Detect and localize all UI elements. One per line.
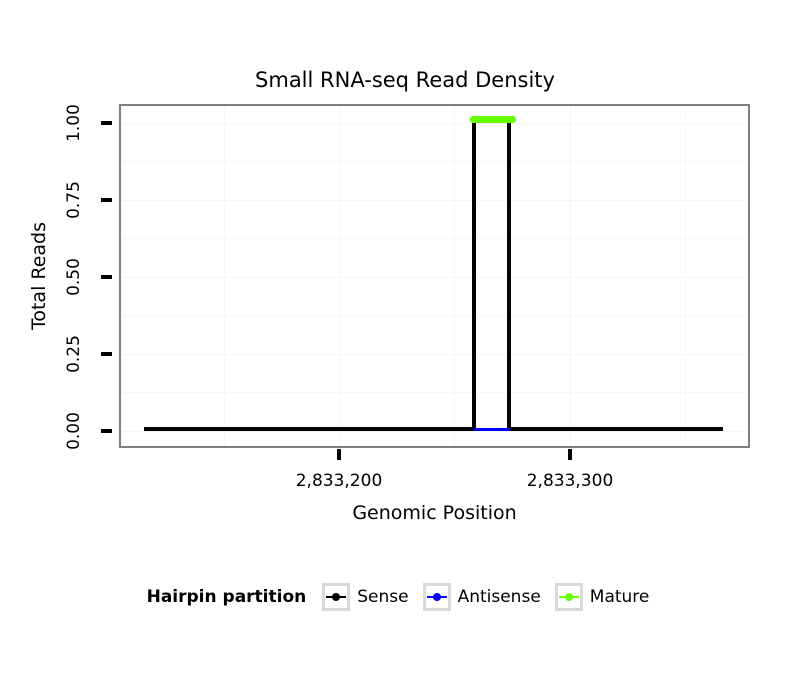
- gridline-x-2833200: [339, 106, 340, 446]
- legend-key-sense-icon: [322, 583, 350, 611]
- legend-key-antisense-icon: [423, 583, 451, 611]
- legend-title: Hairpin partition: [147, 587, 307, 607]
- legend-entry-sense[interactable]: Sense: [322, 583, 408, 611]
- gridline-x-minor-2833250: [454, 106, 455, 446]
- legend-label-antisense: Antisense: [458, 587, 541, 607]
- y-tick-label-0.25: 0.25: [52, 344, 96, 364]
- y-tick-label-0.75: 0.75: [52, 190, 96, 210]
- sense-baseline-left: [144, 427, 474, 431]
- legend-label-mature: Mature: [590, 587, 650, 607]
- y-tick-label-1.00: 1.00: [52, 113, 96, 133]
- x-tick-label-2833300: 2,833,300: [527, 471, 614, 491]
- y-tick-label-0.50: 0.50: [52, 267, 96, 287]
- gridline-x-2833300: [570, 106, 571, 446]
- legend-label-sense: Sense: [357, 587, 408, 607]
- plot-panel: [119, 104, 750, 448]
- legend-key-mature-icon: [555, 583, 583, 611]
- chart-title: Small RNA-seq Read Density: [0, 68, 810, 92]
- legend-entry-mature[interactable]: Mature: [555, 583, 650, 611]
- gridline-y-minor-0.625: [121, 238, 748, 239]
- y-tick-mark-1.00: [101, 121, 112, 125]
- gridline-y-0.25: [121, 354, 748, 355]
- y-tick-mark-0.25: [101, 352, 112, 356]
- gridline-x-minor-2833150: [224, 106, 225, 446]
- gridline-y-minor-0.875: [121, 161, 748, 162]
- y-tick-mark-0.75: [101, 198, 112, 202]
- gridline-y-1.00: [121, 123, 748, 124]
- sense-baseline-right: [509, 427, 723, 431]
- antisense-baseline-segment: [474, 428, 510, 431]
- x-tick-mark-2833300: [568, 449, 572, 460]
- gridline-y-0.00: [121, 431, 748, 432]
- sense-fall-edge: [507, 119, 511, 431]
- x-tick-label-2833200: 2,833,200: [296, 471, 383, 491]
- gridline-x-minor-2833350: [685, 106, 686, 446]
- plot-area: [121, 106, 748, 446]
- x-tick-mark-2833200: [337, 449, 341, 460]
- x-axis-title: Genomic Position: [119, 502, 750, 524]
- gridline-y-0.75: [121, 200, 748, 201]
- mature-peak-segment: [470, 116, 516, 123]
- y-tick-mark-0.50: [101, 275, 112, 279]
- sense-rise-edge: [472, 119, 476, 431]
- gridline-y-0.50: [121, 277, 748, 278]
- y-axis-title: Total Reads: [24, 104, 54, 448]
- legend-entry-antisense[interactable]: Antisense: [423, 583, 541, 611]
- gridline-y-minor-0.125: [121, 392, 748, 393]
- gridline-y-minor-0.375: [121, 315, 748, 316]
- y-tick-label-0.00: 0.00: [52, 421, 96, 441]
- y-tick-mark-0.00: [101, 429, 112, 433]
- y-axis-title-label: Total Reads: [28, 222, 50, 330]
- legend: Hairpin partition Sense Antisense Mature: [0, 583, 810, 611]
